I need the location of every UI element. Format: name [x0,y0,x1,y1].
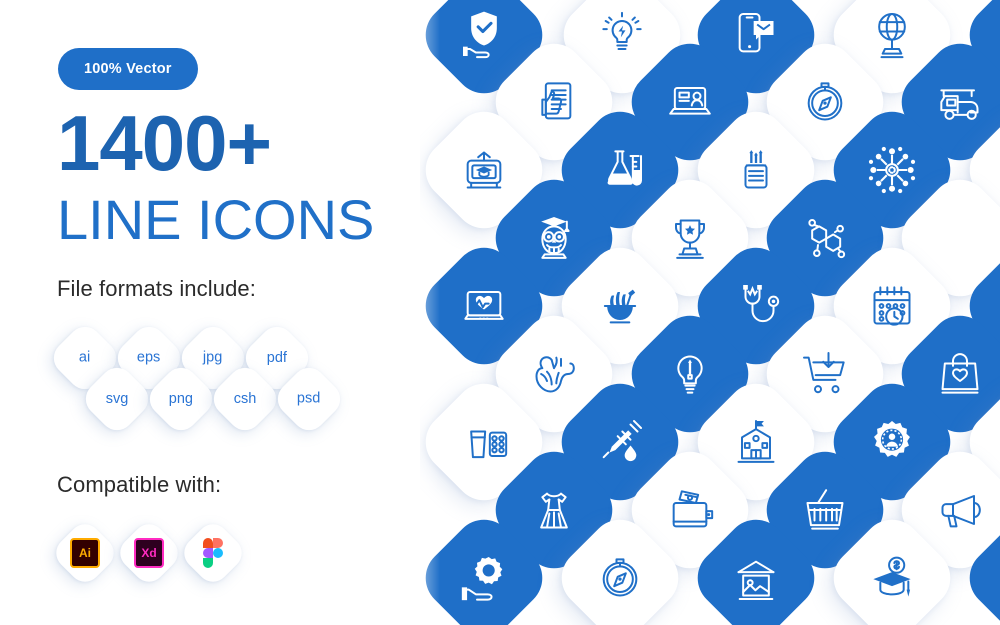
laptop-profile-icon [662,74,718,130]
dress-icon [526,482,582,538]
tv-education-icon [456,142,512,198]
mobile-email-icon [728,7,784,63]
cart-download-icon [797,346,853,402]
vector-badge-label: 100% Vector [84,61,172,77]
flask-test-tube-icon [592,142,648,198]
format-badge-label: ai [79,351,90,366]
megaphone-icon [932,482,988,538]
cruise-ship-icon [932,210,988,266]
compat-badge-adobe-illustrator: Ai [50,518,121,589]
gear-user-icon [864,414,920,470]
format-badge-label: png [169,392,193,407]
format-badge-label: psd [297,392,320,407]
syringe-drop-icon [592,414,648,470]
globe-stand-icon [864,7,920,63]
headline-subtitle: LINE ICONS [57,192,374,248]
molecule-icon [797,210,853,266]
golf-cart-icon [932,74,988,130]
graduation-money-icon [864,550,920,606]
trophy-icon [662,210,718,266]
anatomical-heart-icon [526,346,582,402]
format-badge-label: svg [106,392,129,407]
pen-holder-icon [728,142,784,198]
thumbs-up-document-icon [526,74,582,130]
adobe-illustrator-label: Ai [70,538,100,568]
file-formats-title: File formats include: [57,276,256,302]
adobe-illustrator-icon: Ai [70,538,100,568]
stethoscope-icon [728,278,784,334]
adobe-xd-icon: Xd [134,538,164,568]
picture-frame-icon [728,550,784,606]
format-badge-label: csh [234,392,257,407]
shield-check-hand-icon [456,7,512,63]
compass-icon [797,74,853,130]
shopping-basket-icon [797,482,853,538]
heart-monitor-icon [456,278,512,334]
bulb-pencil-icon [662,346,718,402]
figma-icon [203,538,223,568]
virus-network-icon [864,142,920,198]
compatible-with-title: Compatible with: [57,472,221,498]
compat-badge-figma [178,518,249,589]
gear-hand-icon [456,550,512,606]
headline-count: 1400+ [57,104,271,182]
idea-bulb-icon [594,7,650,63]
calendar-clock-icon [864,278,920,334]
poster-stage: 100% Vector 1400+ LINE ICONS File format… [0,0,1000,625]
compass-icon [592,550,648,606]
left-info-panel: 100% Vector 1400+ LINE ICONS File format… [0,0,420,625]
glass-pills-icon [456,414,512,470]
school-building-icon [728,414,784,470]
vector-badge: 100% Vector [58,48,198,90]
format-badge-label: pdf [267,351,287,366]
format-badge-label: jpg [203,351,222,366]
format-badge-label: eps [137,351,160,366]
compat-badge-adobe-xd: Xd [114,518,185,589]
wallet-money-icon [662,482,718,538]
owl-graduate-icon [526,210,582,266]
adobe-xd-label: Xd [134,538,164,568]
mortar-pestle-icon [592,278,648,334]
shopping-bag-heart-icon [932,346,988,402]
